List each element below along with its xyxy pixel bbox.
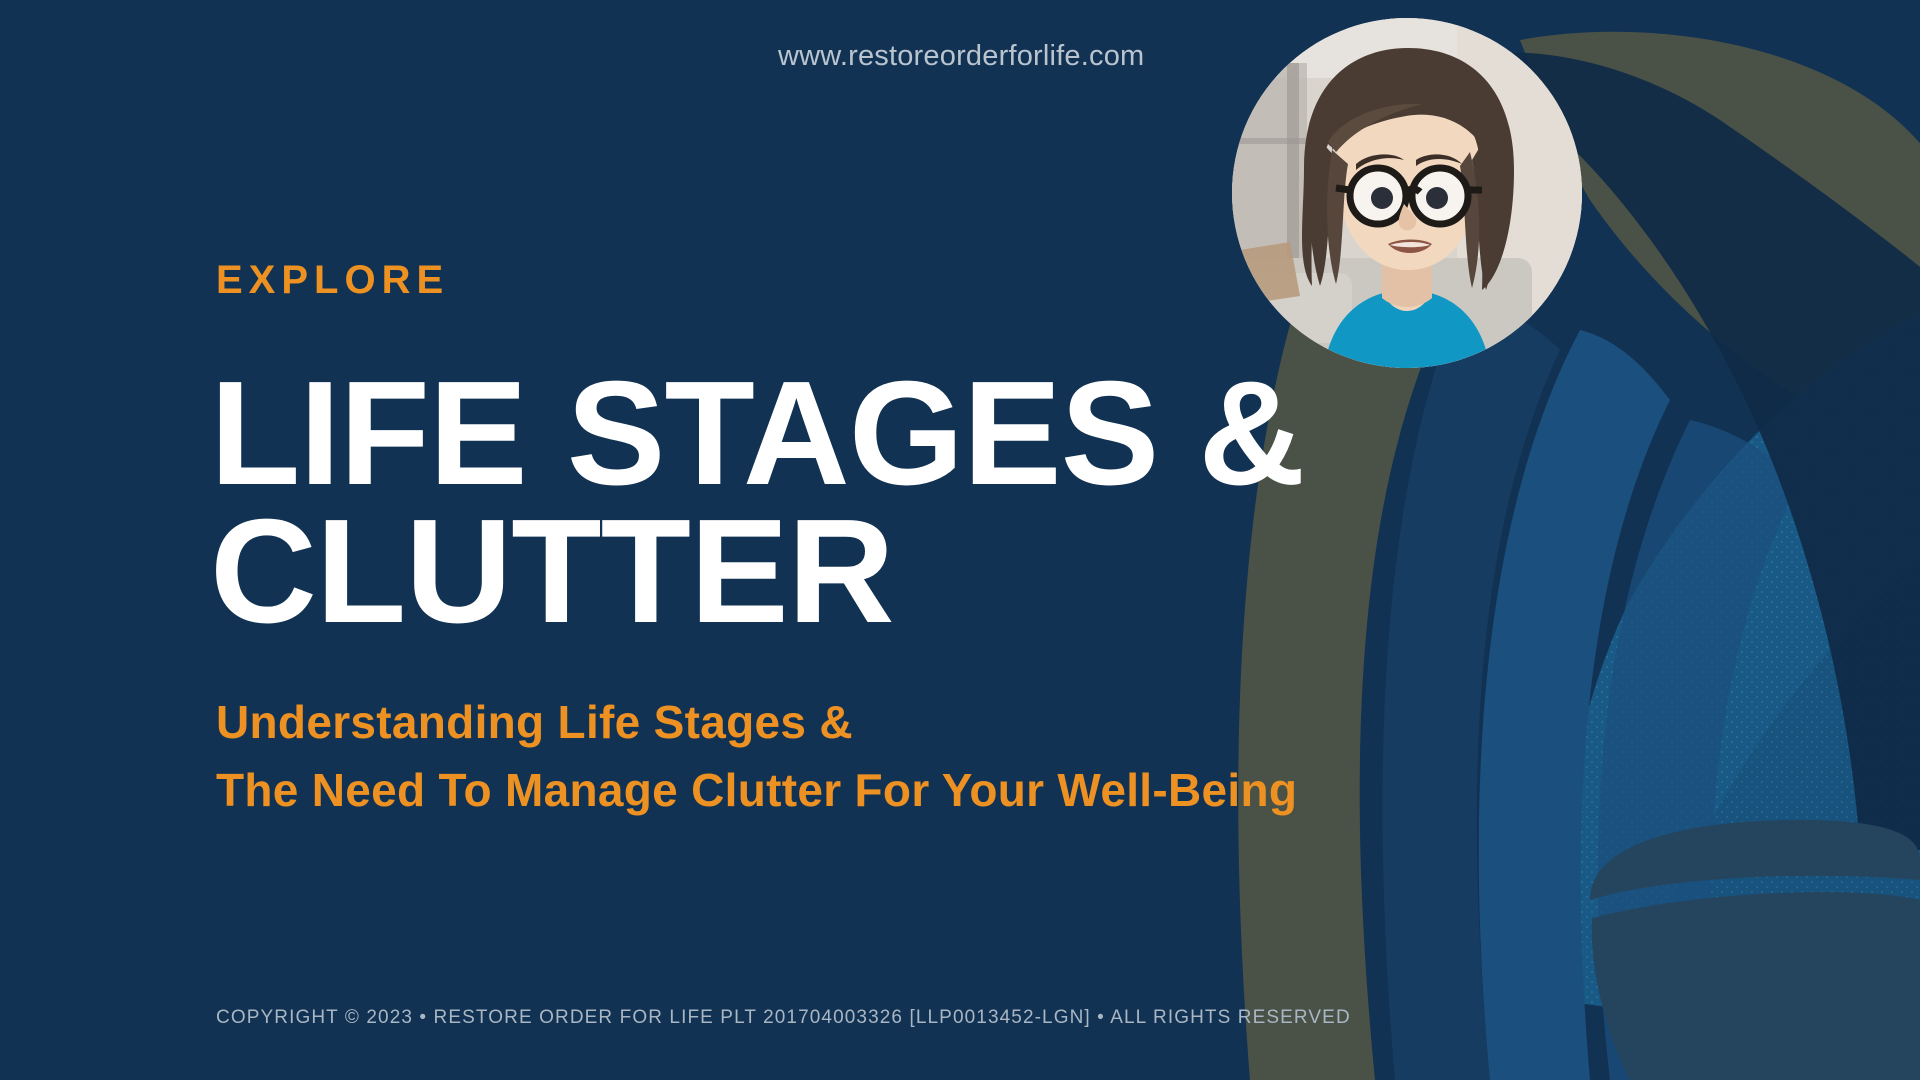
decor-shape-blue-band-2 xyxy=(1598,420,1800,1080)
headline-line-2: CLUTTER xyxy=(210,503,1370,641)
decor-shape-dotted-blue xyxy=(1554,300,1920,1010)
decor-shape-dotted-blue-2 xyxy=(1640,520,1920,930)
avatar xyxy=(1232,18,1582,368)
page-title: LIFE STAGES & CLUTTER xyxy=(210,365,1370,640)
decor-shape-blue-band-1 xyxy=(1479,330,1670,1080)
subtitle: Understanding Life Stages & The Need To … xyxy=(216,688,1297,824)
slide-canvas: www.restoreorderforlife.com xyxy=(0,0,1920,1080)
subtitle-line-2: The Need To Manage Clutter For Your Well… xyxy=(216,756,1297,824)
headline-line-1: LIFE STAGES & xyxy=(210,365,1370,503)
decor-shape-olive-top xyxy=(1520,32,1920,470)
eyebrow-label: EXPLORE xyxy=(216,258,449,303)
decor-shape-slate-arc xyxy=(1590,820,1920,900)
decor-shape-navy-band-1 xyxy=(1383,300,1560,1080)
decor-shape-slate-base xyxy=(1592,892,1920,1080)
subtitle-line-1: Understanding Life Stages & xyxy=(216,688,1297,756)
copyright-notice: COPYRIGHT © 2023 • RESTORE ORDER FOR LIF… xyxy=(216,1007,1351,1029)
website-url: www.restoreorderforlife.com xyxy=(778,40,1144,73)
